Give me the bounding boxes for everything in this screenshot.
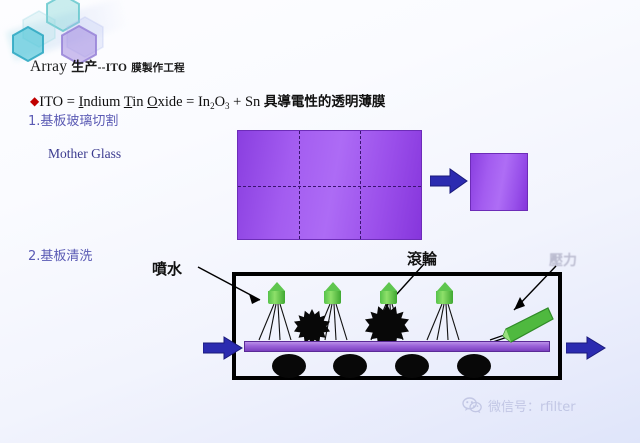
wechat-icon	[462, 397, 482, 414]
mother-glass-panel	[237, 130, 422, 240]
roller-icon	[333, 354, 367, 378]
spray-nozzle-icon	[324, 282, 341, 304]
block-arrow-right-icon	[430, 168, 468, 199]
formula-t1: ndium	[83, 94, 123, 110]
slide-title: Array 生产--ITO 膜製作工程	[30, 56, 185, 76]
title-abbr: ITO	[106, 62, 127, 74]
roller-icon	[272, 354, 306, 378]
formula-t4: O	[215, 94, 225, 110]
watermark-text: 微信号：rfilter	[488, 396, 576, 415]
water-spray-icon	[426, 304, 464, 342]
spray-nozzle-icon	[380, 282, 397, 304]
formula-cn: 具導電性的透明薄膜	[264, 94, 386, 110]
air-knife-icon	[494, 306, 554, 350]
formula-lead: ITO =	[39, 94, 78, 110]
brush-burst-icon	[294, 309, 330, 345]
roller-icon	[395, 354, 429, 378]
title-cn-2: 膜製作工程	[131, 62, 185, 74]
block-arrow-right-icon	[203, 336, 243, 365]
formula-t2: in	[132, 94, 147, 110]
title-dash: --	[98, 62, 106, 74]
step-2-label: 2.基板清洗	[28, 245, 92, 264]
formula-line: ◆ITO = Indium Tin Oxide = In2O3 + Sn 具導電…	[30, 90, 385, 111]
cut-line-vertical	[360, 131, 361, 239]
spray-water-label: 噴水	[152, 258, 182, 279]
cut-glass-piece	[470, 153, 528, 211]
formula-u2: T	[124, 94, 132, 110]
spray-nozzle-icon	[268, 282, 285, 304]
cut-line-horizontal	[238, 186, 421, 187]
formula-t3: xide = In	[158, 94, 210, 110]
watermark: 微信号：rfilter	[462, 396, 576, 415]
hexagon-decoration	[0, 0, 140, 64]
title-cn: 生产	[71, 60, 97, 75]
spray-nozzle-icon	[436, 282, 453, 304]
cut-line-vertical	[299, 131, 300, 239]
block-arrow-right-icon	[566, 336, 606, 365]
step-1-label: 1.基板玻璃切割	[28, 110, 118, 129]
formula-u3: O	[147, 94, 157, 110]
roller-icon	[457, 354, 491, 378]
formula-t5: + Sn	[230, 94, 264, 110]
title-latin: Array	[30, 58, 67, 75]
slide-canvas: Array 生产--ITO 膜製作工程 ◆ITO = Indium Tin Ox…	[0, 0, 640, 443]
water-spray-icon	[258, 304, 296, 342]
mother-glass-label: Mother Glass	[48, 146, 121, 162]
diamond-bullet-icon: ◆	[30, 94, 39, 108]
